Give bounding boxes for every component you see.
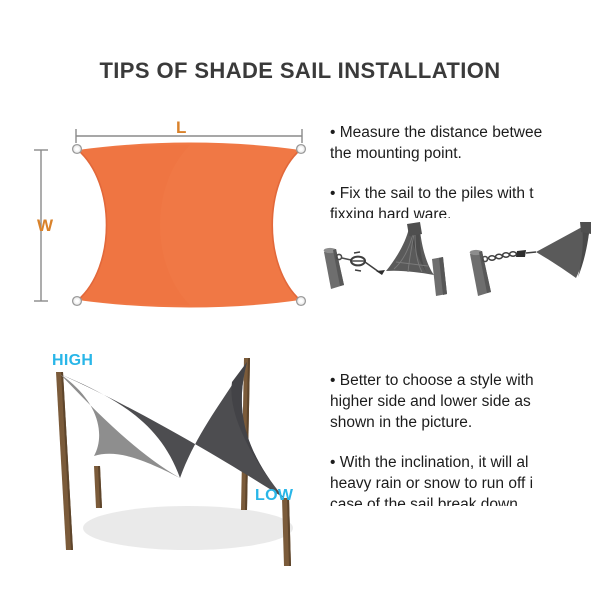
- low-side-label: LOW: [255, 487, 293, 505]
- mounting-post-left: [324, 248, 344, 289]
- tip-line: • Measure the distance betwee: [330, 122, 600, 143]
- grommet-top-left: [73, 145, 82, 154]
- tips-top-textblock: • Measure the distance betwee the mounti…: [330, 122, 600, 218]
- ground-shadow: [83, 506, 293, 550]
- width-label: W: [37, 216, 53, 236]
- turnbuckle-left: [351, 252, 365, 271]
- hardware-assembly-right: [470, 222, 591, 296]
- tip-line: shown in the picture.: [330, 412, 600, 433]
- rectangular-sail-diagram: [20, 105, 320, 310]
- tip-line: heavy rain or snow to run off i: [330, 473, 600, 494]
- tip-line: higher side and lower side as: [330, 391, 600, 412]
- length-label: L: [176, 118, 186, 138]
- canopy-post-front-left: [94, 466, 102, 508]
- grommet-bottom-left: [73, 297, 82, 306]
- mounting-post-left-right-pole: [432, 257, 447, 296]
- infographic-page: TIPS OF SHADE SAIL INSTALLATION: [0, 0, 600, 600]
- tip-line: the mounting point.: [330, 143, 600, 164]
- length-dimension-line: [76, 129, 302, 143]
- paragraph-gap: [330, 164, 600, 183]
- hardware-assembly-left: [324, 222, 447, 296]
- tip-line: • Fix the sail to the piles with t: [330, 183, 600, 204]
- tip-line: • With the inclination, it will al: [330, 452, 600, 473]
- high-low-canopy-diagram: [28, 338, 328, 573]
- grommet-bottom-right: [297, 297, 306, 306]
- tip-line: case of the sail break down.: [330, 494, 600, 506]
- canopy-post-high-left: [56, 372, 73, 550]
- canopy-post-low-right: [282, 498, 291, 566]
- paragraph-gap: [330, 433, 600, 452]
- high-side-label: HIGH: [52, 352, 93, 370]
- tip-line: fixxing hard ware.: [330, 204, 600, 218]
- chain-links: [489, 252, 517, 260]
- tip-line: • Better to choose a style with: [330, 370, 600, 391]
- tips-bottom-textblock: • Better to choose a style with higher s…: [330, 370, 600, 506]
- page-title: TIPS OF SHADE SAIL INSTALLATION: [0, 58, 600, 84]
- mounting-post-right: [470, 250, 491, 296]
- grommet-top-right: [297, 145, 306, 154]
- canopy-sail-dark: [60, 362, 284, 498]
- hardware-fixing-diagram: [310, 222, 600, 314]
